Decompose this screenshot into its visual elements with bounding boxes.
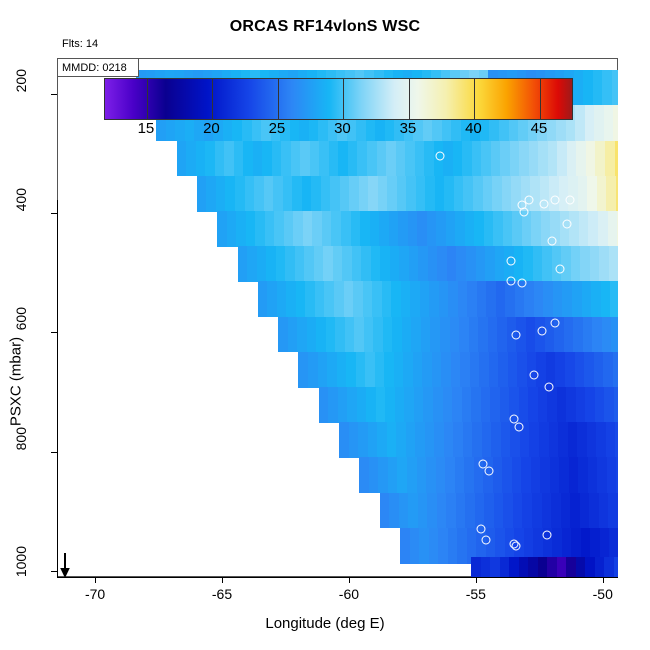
data-point-marker bbox=[548, 237, 557, 246]
y-tick-label: 200 bbox=[13, 69, 29, 115]
colorbar-tick bbox=[212, 79, 213, 119]
y-tick bbox=[51, 213, 57, 214]
colorbar-tick-label: 40 bbox=[465, 120, 482, 137]
data-point-marker bbox=[507, 276, 516, 285]
heatmap-cell bbox=[608, 493, 618, 529]
colorbar-tick-label: 30 bbox=[334, 120, 351, 137]
y-tick bbox=[51, 452, 57, 453]
data-point-marker bbox=[515, 422, 524, 431]
x-tick bbox=[95, 577, 96, 583]
x-tick-label: -70 bbox=[85, 586, 105, 602]
data-point-marker bbox=[550, 195, 559, 204]
x-tick-label: -65 bbox=[212, 586, 232, 602]
heatmap-cell bbox=[614, 557, 618, 577]
data-point-marker bbox=[484, 466, 493, 475]
colorbar-gradient bbox=[105, 79, 572, 119]
heatmap-cell bbox=[611, 317, 618, 353]
flights-label: Flts: 14 bbox=[62, 38, 98, 50]
heatmap-cell bbox=[615, 422, 618, 458]
colorbar-tick bbox=[147, 79, 148, 119]
y-tick-label: 1000 bbox=[13, 546, 29, 592]
date-label-box: MMDD: 0218 bbox=[57, 58, 139, 77]
x-tick-label: -55 bbox=[466, 586, 486, 602]
x-tick-label: -60 bbox=[339, 586, 359, 602]
data-point-marker bbox=[520, 207, 529, 216]
colorbar-tick-label: 20 bbox=[203, 120, 220, 137]
y-tick bbox=[51, 94, 57, 95]
data-point-marker bbox=[550, 319, 559, 328]
page-title: ORCAS RF14vlonS WSC bbox=[0, 18, 650, 36]
heatmap-cell bbox=[610, 281, 618, 317]
colorbar-tick-label: 25 bbox=[269, 120, 286, 137]
data-point-marker bbox=[565, 195, 574, 204]
colorbar-tick-label: 35 bbox=[400, 120, 417, 137]
data-point-marker bbox=[482, 536, 491, 545]
data-point-marker bbox=[537, 327, 546, 336]
x-axis-line bbox=[57, 577, 618, 578]
heatmap-cell bbox=[616, 176, 618, 212]
x-axis-title: Longitude (deg E) bbox=[0, 615, 650, 632]
heatmap-cell bbox=[612, 70, 618, 106]
data-point-marker bbox=[563, 219, 572, 228]
y-tick bbox=[51, 332, 57, 333]
x-tick bbox=[476, 577, 477, 583]
data-point-marker bbox=[517, 279, 526, 288]
date-label: MMDD: 0218 bbox=[62, 62, 127, 74]
colorbar-tick bbox=[343, 79, 344, 119]
heatmap-cell bbox=[617, 211, 618, 247]
colorbar bbox=[104, 78, 573, 120]
data-point-marker bbox=[436, 152, 445, 161]
heatmap-cell bbox=[609, 246, 618, 282]
data-point-marker bbox=[530, 371, 539, 380]
heatmap-cell bbox=[613, 352, 618, 388]
heatmap-cell bbox=[615, 141, 619, 177]
data-point-marker bbox=[542, 531, 551, 540]
data-point-marker bbox=[512, 331, 521, 340]
colorbar-tick-labels: 15202530354045 bbox=[0, 120, 650, 142]
x-tick-label: -50 bbox=[593, 586, 613, 602]
y-axis-title: PSXC (mbar) bbox=[8, 302, 25, 462]
y-axis-line bbox=[57, 200, 58, 578]
data-point-marker bbox=[507, 256, 516, 265]
colorbar-tick bbox=[278, 79, 279, 119]
colorbar-tick-label: 15 bbox=[138, 120, 155, 137]
data-point-marker bbox=[545, 383, 554, 392]
data-point-marker bbox=[555, 265, 564, 274]
colorbar-tick bbox=[474, 79, 475, 119]
y-tick bbox=[51, 571, 57, 572]
x-tick bbox=[349, 577, 350, 583]
x-tick bbox=[222, 577, 223, 583]
x-tick bbox=[603, 577, 604, 583]
colorbar-tick bbox=[540, 79, 541, 119]
heatmap-cell bbox=[614, 387, 618, 423]
colorbar-tick bbox=[409, 79, 410, 119]
figure-root: ORCAS RF14vlonS WSC Flts: 14 MMDD: 0218 … bbox=[0, 0, 650, 650]
down-arrow-icon bbox=[58, 552, 72, 578]
heatmap-cell bbox=[616, 457, 618, 493]
data-point-marker bbox=[476, 525, 485, 534]
colorbar-tick-label: 45 bbox=[531, 120, 548, 137]
y-tick-label: 400 bbox=[13, 188, 29, 234]
data-point-marker bbox=[512, 541, 521, 550]
data-point-marker bbox=[540, 200, 549, 209]
